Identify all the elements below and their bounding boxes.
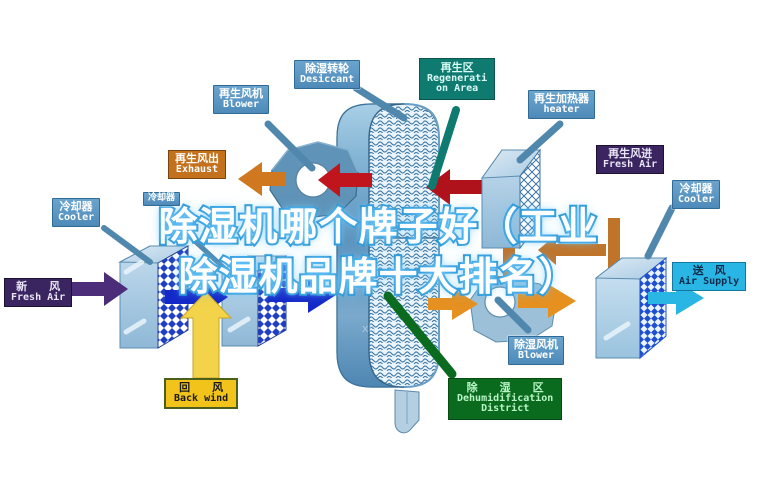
label-exhaust-en: Exhaust <box>175 165 219 176</box>
label-process-blower: 除湿风机 Blower <box>508 336 564 365</box>
label-desiccant-wheel-cn: 除湿转轮 <box>300 63 354 75</box>
regen-heater-coil <box>482 150 540 248</box>
label-process-blower-cn: 除湿风机 <box>514 339 558 351</box>
regen-intake-arrow <box>538 235 606 265</box>
label-cooler-left-cn: 冷却器 <box>58 201 94 213</box>
label-cooler-left: 冷却器 Cooler <box>52 198 100 227</box>
label-exhaust: 再生风出 Exhaust <box>168 150 226 179</box>
schematic-illustration: xh <box>0 0 757 488</box>
label-cooler-right-cn: 冷却器 <box>678 183 714 195</box>
label-cooler-left-2-cn: 冷却器 <box>148 194 175 203</box>
label-regeneration-area-cn: 再生区 <box>427 62 487 74</box>
label-air-supply-cn: 送 风 <box>679 265 739 277</box>
svg-text:xh: xh <box>362 322 376 335</box>
label-cooler-left-2: 冷却器 <box>143 192 180 206</box>
label-regen-heater-en: heater <box>534 105 589 116</box>
label-dehumidification-district: 除 湿 区 Dehumidification District <box>448 378 562 420</box>
label-fresh-air-process-en: Fresh Air <box>11 293 65 304</box>
label-fresh-air-process-cn: 新 风 <box>11 281 65 293</box>
label-air-supply-en: Air Supply <box>679 277 739 288</box>
desiccant-rotor: xh <box>337 104 439 433</box>
label-back-wind: 回 风 Back wind <box>164 378 238 409</box>
label-desiccant-wheel: 除湿转轮 Desiccant <box>294 60 360 89</box>
label-back-wind-en: Back wind <box>174 394 228 405</box>
dehumidifier-diagram-image: xh <box>0 0 757 488</box>
label-fresh-air-regen-en: Fresh Air <box>603 160 657 171</box>
label-process-blower-en: Blower <box>514 351 558 362</box>
cooler-coil-right <box>596 258 666 358</box>
label-regen-blower: 再生风机 Blower <box>213 85 269 114</box>
label-exhaust-cn: 再生风出 <box>175 153 219 165</box>
label-air-supply: 送 风 Air Supply <box>672 262 746 291</box>
label-regen-blower-cn: 再生风机 <box>219 88 263 100</box>
label-cooler-right-en: Cooler <box>678 195 714 206</box>
label-regen-heater: 再生加热器 heater <box>528 90 595 119</box>
label-dehumidification-district-cn: 除 湿 区 <box>457 382 553 394</box>
label-fresh-air-regen: 再生风进 Fresh Air <box>596 145 664 174</box>
label-fresh-air-process: 新 风 Fresh Air <box>4 278 72 307</box>
label-cooler-left-en: Cooler <box>58 213 94 224</box>
label-regeneration-area-en2: on Area <box>427 84 487 95</box>
process-blower-housing <box>470 278 556 342</box>
label-cooler-right: 冷却器 Cooler <box>672 180 720 209</box>
label-regen-blower-en: Blower <box>219 100 263 111</box>
fresh-air-arrow <box>66 272 128 306</box>
label-regen-heater-cn: 再生加热器 <box>534 93 589 105</box>
label-dehumidification-district-en2: District <box>457 404 553 415</box>
label-regeneration-area: 再生区 Regenerati on Area <box>419 58 495 100</box>
label-desiccant-wheel-en: Desiccant <box>300 75 354 86</box>
label-fresh-air-regen-cn: 再生风进 <box>603 148 657 160</box>
label-back-wind-cn: 回 风 <box>174 382 228 394</box>
